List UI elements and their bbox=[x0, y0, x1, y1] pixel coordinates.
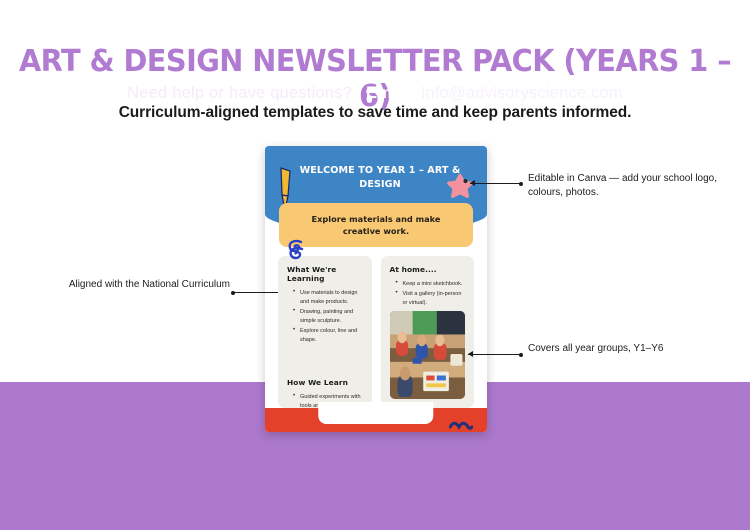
footer-email-address[interactable]: info@advisoryscience.com bbox=[422, 84, 623, 102]
leader-line-curriculum bbox=[232, 292, 278, 293]
classroom-photo bbox=[390, 311, 466, 399]
column-heading-how-we-learn: How We Learn bbox=[287, 378, 364, 387]
card-bottom-notch bbox=[318, 402, 433, 424]
annotation-canva: Editable in Canva — add your school logo… bbox=[528, 172, 750, 200]
paintbrush-icon bbox=[277, 166, 297, 208]
list-item: Use materials to design and make product… bbox=[295, 289, 364, 307]
leader-line-canva bbox=[470, 183, 522, 184]
leader-dot bbox=[519, 182, 523, 186]
list-item: Explore colour, line and shape. bbox=[295, 327, 364, 345]
footer-question: Need help or have questions? bbox=[127, 84, 352, 102]
poster-canvas: ART & DESIGN NEWSLETTER PACK (YEARS 1 – … bbox=[0, 0, 750, 530]
learning-list: Use materials to design and make product… bbox=[287, 289, 364, 344]
list-item: Drawing, painting and simple sculpture. bbox=[295, 308, 364, 326]
card-columns: What We're Learning Use materials to des… bbox=[278, 256, 474, 408]
card-bottom-band bbox=[265, 408, 487, 432]
annotation-year-groups: Covers all year groups, Y1–Y6 bbox=[528, 342, 663, 356]
swirl-icon bbox=[285, 237, 307, 261]
column-heading-at-home: At home.... bbox=[390, 265, 467, 274]
leader-dot bbox=[519, 353, 523, 357]
page-subtitle: Curriculum-aligned templates to save tim… bbox=[0, 104, 750, 122]
column-learning: What We're Learning Use materials to des… bbox=[278, 256, 372, 408]
annotation-curriculum: Aligned with the National Curriculum bbox=[69, 278, 230, 292]
leader-dot bbox=[231, 291, 235, 295]
list-item: Visit a gallery (in-person or virtual). bbox=[398, 290, 467, 308]
squiggle-icon bbox=[449, 418, 473, 428]
column-at-home: At home.... Keep a mini sketchbook. Visi… bbox=[381, 256, 475, 408]
column-heading-learning: What We're Learning bbox=[287, 265, 364, 283]
leader-line-year-groups bbox=[468, 354, 522, 355]
highlight-box: Explore materials and make creative work… bbox=[279, 203, 473, 247]
list-item: Keep a mini sketchbook. bbox=[398, 280, 467, 289]
footer-email-label: Email: bbox=[366, 84, 417, 102]
at-home-list: Keep a mini sketchbook. Visit a gallery … bbox=[390, 280, 467, 308]
card-banner-title: WELCOME TO YEAR 1 – ART & DESIGN bbox=[295, 164, 465, 192]
highlight-text: Explore materials and make creative work… bbox=[279, 213, 473, 238]
footer-contact: Need help or have questions?Email: info@… bbox=[0, 84, 750, 103]
newsletter-preview-card[interactable]: Explore materials and make creative work… bbox=[265, 146, 487, 432]
